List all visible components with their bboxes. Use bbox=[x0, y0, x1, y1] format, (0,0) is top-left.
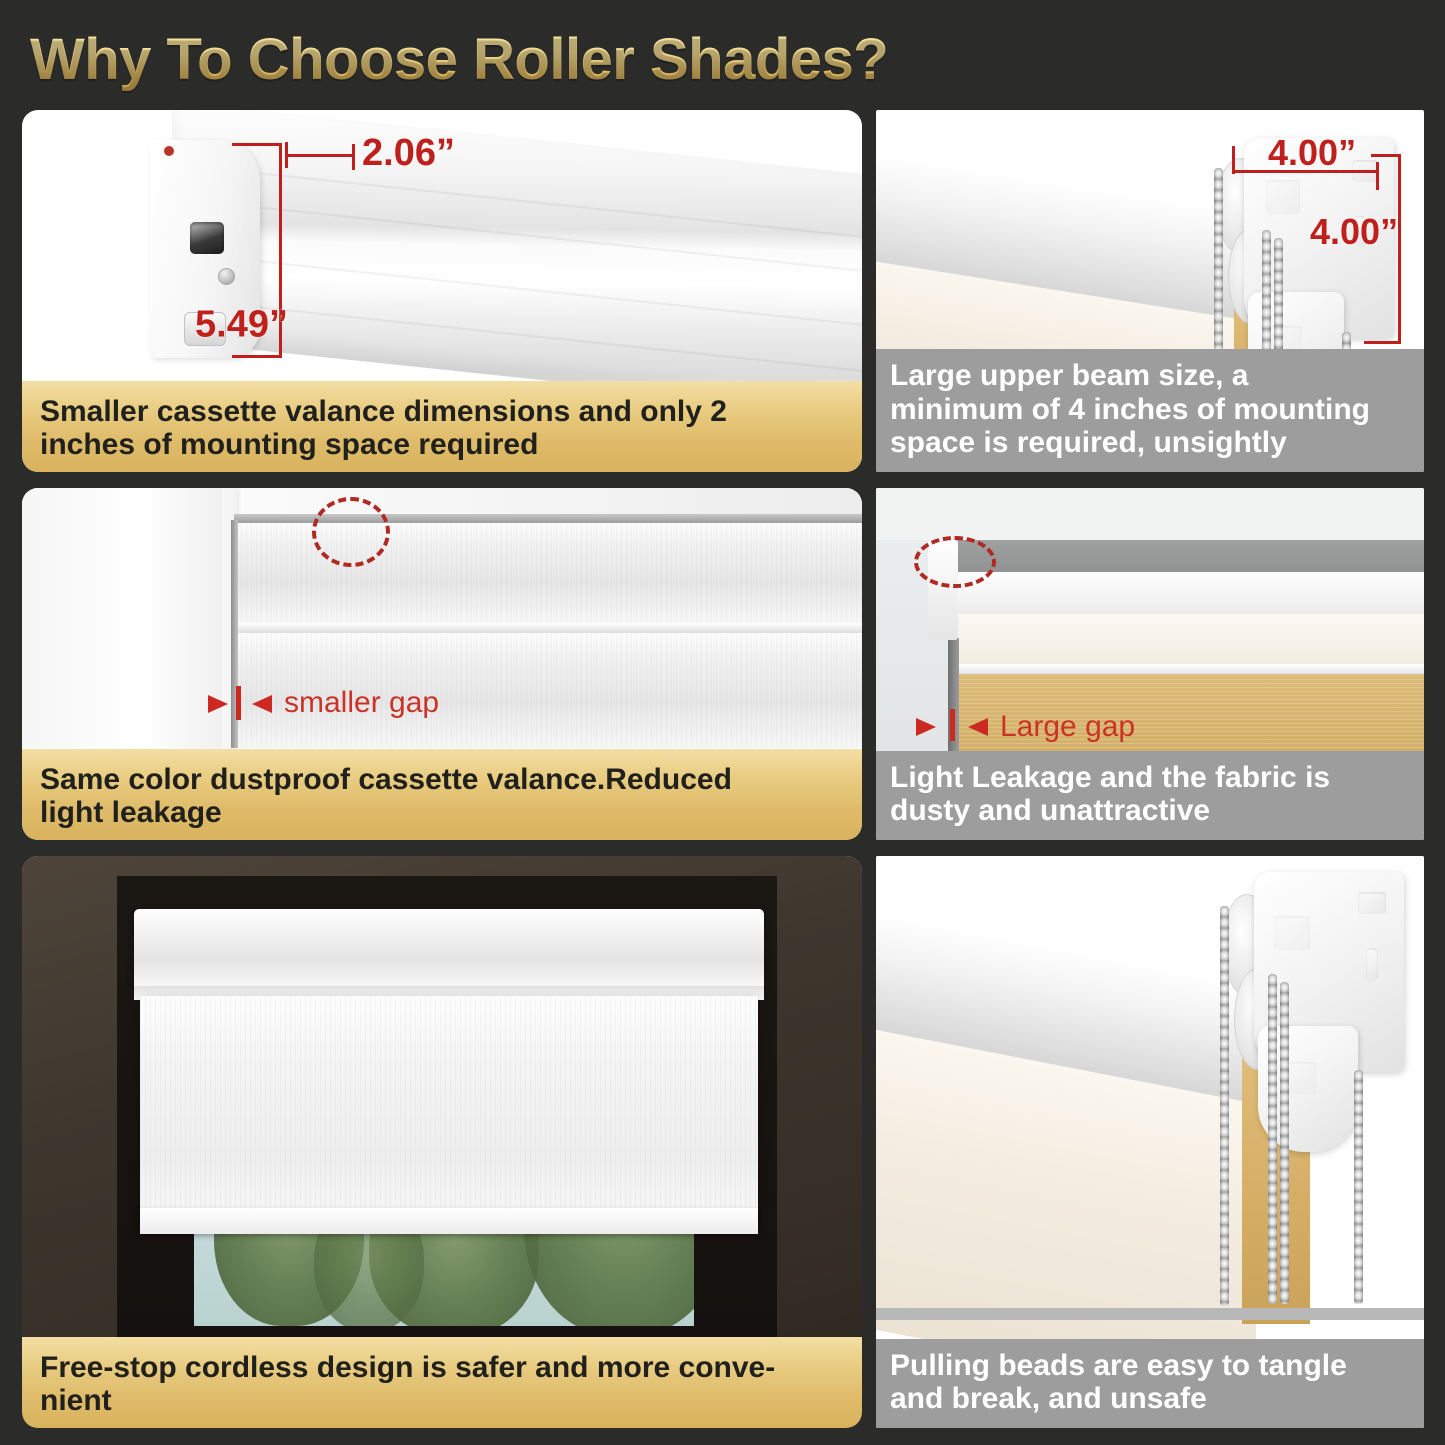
caption-panel-2: Large upper beam size, a minimum of 4 in… bbox=[876, 349, 1424, 472]
marker-dot bbox=[164, 146, 174, 156]
bead-chain bbox=[1268, 974, 1277, 1304]
bottom-rail bbox=[140, 1208, 758, 1234]
panel-large-upper-beam: 4.00” 4.00” Large upper beam size, a min… bbox=[876, 110, 1424, 472]
panel-cassette-valance-dimensions: 2.06” 5.49” Smaller cassette valance dim… bbox=[22, 110, 862, 472]
caption-panel-5: Free-stop cordless design is safer and m… bbox=[22, 1337, 862, 1428]
shade-fabric-panel bbox=[140, 996, 758, 1226]
gap-tick-icon bbox=[236, 686, 241, 720]
gap-arrow-right-icon bbox=[968, 718, 988, 736]
caption-line: Light Leakage and the fabric is bbox=[890, 761, 1410, 795]
caption-line: nient bbox=[40, 1384, 844, 1418]
valance-body bbox=[172, 110, 862, 415]
gap-arrow-right-icon bbox=[252, 695, 272, 713]
gap-tick-icon bbox=[950, 709, 955, 741]
dim-width-tick-right bbox=[352, 144, 355, 170]
caption-panel-1: Smaller cassette valance dimensions and … bbox=[22, 381, 862, 472]
caption-line: light leakage bbox=[40, 796, 844, 830]
panel-pulling-beads: Pulling beads are easy to tangle and bre… bbox=[876, 856, 1424, 1428]
caption-panel-3: Same color dustproof cassette valance.Re… bbox=[22, 749, 862, 840]
caption-line: and break, and unsafe bbox=[890, 1382, 1410, 1416]
caption-line: Pulling beads are easy to tangle bbox=[890, 1349, 1410, 1383]
dim-w-tick-right bbox=[1376, 162, 1379, 190]
bead-chain bbox=[1280, 982, 1289, 1304]
dim-label-height: 5.49” bbox=[195, 304, 288, 347]
caption-line: Large upper beam size, a bbox=[890, 359, 1410, 393]
caption-line: inches of mounting space required bbox=[40, 428, 844, 462]
comparison-grid: 2.06” 5.49” Smaller cassette valance dim… bbox=[22, 110, 1424, 1428]
caption-line: Free-stop cordless design is safer and m… bbox=[40, 1351, 844, 1385]
bracket-slot bbox=[1358, 892, 1386, 914]
dim-height-tick-top bbox=[232, 143, 282, 146]
dim-h-tick-bottom bbox=[1364, 341, 1401, 344]
screw-icon bbox=[218, 268, 235, 285]
highlight-circle-icon bbox=[312, 497, 390, 567]
caption-line: Smaller cassette valance dimensions and … bbox=[40, 395, 844, 429]
dim-width-line bbox=[288, 154, 354, 157]
panel-free-stop-cordless: Free-stop cordless design is safer and m… bbox=[22, 856, 862, 1428]
caption-panel-6: Pulling beads are easy to tangle and bre… bbox=[876, 1339, 1424, 1428]
dim-label-beam-width: 4.00” bbox=[1268, 132, 1356, 174]
page-title-container: Why To Choose Roller Shades? bbox=[30, 20, 1410, 98]
panel-smaller-gap: smaller gap Same color dustproof cassett… bbox=[22, 488, 862, 840]
wall-top bbox=[876, 488, 1424, 540]
dim-h-tick-top bbox=[1371, 154, 1401, 157]
bracket-emboss bbox=[1274, 916, 1310, 950]
caption-line: minimum of 4 inches of mounting bbox=[890, 393, 1410, 427]
dim-label-beam-height: 4.00” bbox=[1310, 211, 1398, 253]
bracket-emboss bbox=[1266, 180, 1300, 214]
page-title: Why To Choose Roller Shades? bbox=[30, 26, 888, 93]
floor-line bbox=[876, 1308, 1424, 1320]
caption-line: Same color dustproof cassette valance.Re… bbox=[40, 763, 844, 797]
cassette-valance-box bbox=[134, 909, 764, 991]
dim-h-line bbox=[1398, 154, 1401, 344]
gap-arrow-left-icon bbox=[208, 695, 228, 713]
bead-chain bbox=[1220, 906, 1229, 1306]
dim-height-tick-bottom bbox=[232, 355, 282, 358]
gap-arrow-left-icon bbox=[916, 718, 936, 736]
highlight-circle-icon bbox=[914, 536, 996, 588]
annotation-large-gap: Large gap bbox=[1000, 710, 1135, 744]
slat-divider bbox=[236, 623, 862, 633]
caption-panel-4: Light Leakage and the fabric is dusty an… bbox=[876, 751, 1424, 840]
panel-large-gap: Large gap Light Leakage and the fabric i… bbox=[876, 488, 1424, 840]
valance-slot bbox=[190, 222, 224, 254]
bracket-slot bbox=[1366, 948, 1378, 980]
caption-line: space is required, unsightly bbox=[890, 426, 1410, 460]
window-wall bbox=[22, 488, 222, 748]
annotation-smaller-gap: smaller gap bbox=[284, 686, 439, 720]
caption-line: dusty and unattractive bbox=[890, 794, 1410, 828]
dim-label-width: 2.06” bbox=[362, 132, 455, 175]
bead-chain bbox=[1354, 1070, 1363, 1304]
